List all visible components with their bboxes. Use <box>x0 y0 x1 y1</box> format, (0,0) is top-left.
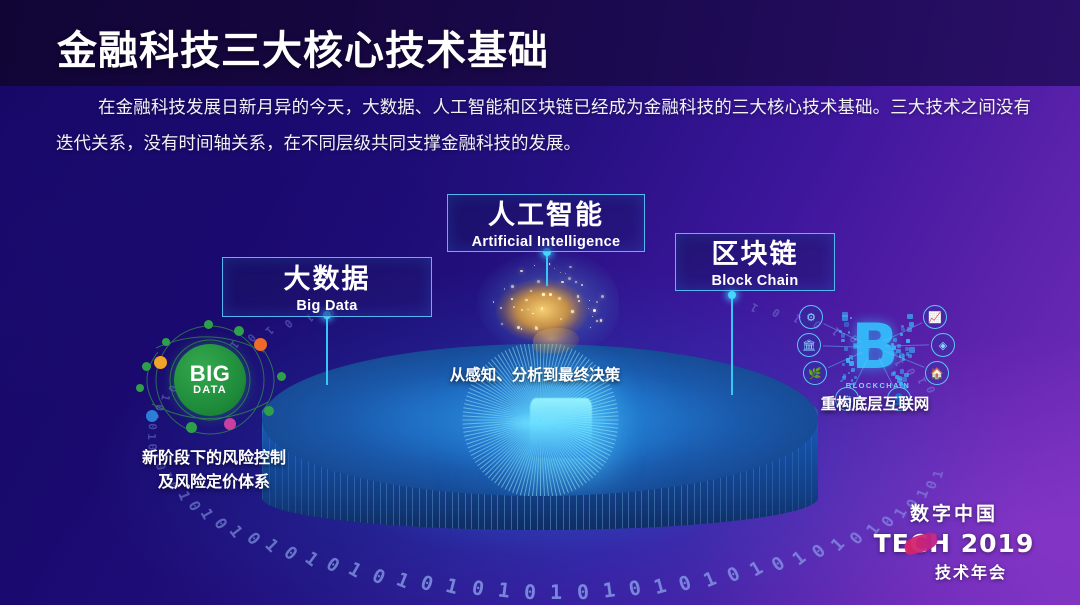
brain-spark <box>513 306 515 308</box>
brain-spark <box>571 310 574 313</box>
brain-spark <box>558 297 561 300</box>
blockchain-pixel <box>848 331 850 333</box>
logo-tech-text: TECH 2019 <box>874 529 1035 558</box>
brain-spark <box>521 328 523 330</box>
brain-spark <box>549 263 551 265</box>
brain-spark <box>511 285 514 288</box>
node-dot <box>277 372 286 381</box>
node-dot <box>162 338 170 346</box>
brain-spark <box>521 309 523 311</box>
brain-spark <box>565 273 566 274</box>
blockchain-pixel <box>844 322 849 327</box>
node-dot <box>254 338 267 351</box>
blockchain-pixel <box>893 338 897 342</box>
brain-spark <box>549 293 552 296</box>
blockchain-pixel <box>849 361 854 366</box>
brain-spark <box>596 320 598 322</box>
caption-big-data-line1: 新阶段下的风险控制 <box>94 444 334 468</box>
blockchain-satellite-icon: ⚙ <box>799 305 823 329</box>
blockchain-pixel <box>909 347 915 353</box>
brain-spark <box>542 293 545 296</box>
blockchain-pixel <box>850 383 853 386</box>
brain-spark <box>581 284 584 287</box>
brain-spark <box>588 308 589 309</box>
brain-spark <box>561 281 564 284</box>
binary-digit: 1 <box>748 300 760 315</box>
node-dot <box>142 362 151 371</box>
node-dot <box>186 422 197 433</box>
blockchain-pixel <box>841 339 845 343</box>
blockchain-satellite-icon: ◈ <box>931 333 955 357</box>
blockchain-pixel <box>892 346 896 350</box>
binary-digit: 0 <box>923 478 941 491</box>
brain-spark <box>569 266 572 269</box>
blockchain-satellite-icon: 🏠 <box>925 361 949 385</box>
brain-spark <box>534 265 535 266</box>
brain-spark <box>560 272 561 273</box>
blockchain-pixel <box>842 363 845 366</box>
big-data-network-icon: BIG DATA <box>128 318 296 438</box>
brain-spark <box>577 295 580 298</box>
big-data-badge-top: BIG <box>190 364 231 385</box>
blockchain-pixel <box>906 339 910 343</box>
brain-spark <box>527 309 528 310</box>
footer-logo: 数字中国 TECH 2019 技术年会 <box>870 499 1038 583</box>
node-dot <box>136 384 144 392</box>
brain-spark <box>575 281 577 283</box>
label-cn-big-data: 大数据 <box>223 265 431 295</box>
blockchain-connector-line <box>823 345 861 347</box>
node-dot <box>204 320 213 329</box>
label-en-blockchain: Block Chain <box>676 273 834 289</box>
brain-spark <box>578 300 580 302</box>
brain-spark <box>589 300 590 301</box>
logo-line-2: TECH 2019 <box>870 529 1038 558</box>
brain-spark <box>525 299 528 302</box>
node-dot <box>146 410 158 422</box>
label-box-ai[interactable]: 人工智能 Artificial Intelligence <box>447 194 645 252</box>
big-data-badge: BIG DATA <box>174 344 246 416</box>
blockchain-pixel <box>904 373 908 377</box>
brain-spark <box>590 327 591 328</box>
presentation-slide: 金融科技三大核心技术基础 在金融科技发展日新月异的今天，大数据、人工智能和区块链… <box>0 0 1080 605</box>
page-title: 金融科技三大核心技术基础 <box>57 18 549 76</box>
blockchain-pixel <box>907 314 913 320</box>
binary-digit: 1 <box>931 469 948 480</box>
connector-line-big-data <box>326 315 328 385</box>
logo-line-1: 数字中国 <box>870 499 1038 526</box>
glowing-brain-icon <box>477 250 619 358</box>
brain-spark <box>501 323 503 325</box>
intro-paragraph: 在金融科技发展日新月异的今天，大数据、人工智能和区块链已经成为金融科技的三大核心… <box>56 90 1031 162</box>
label-box-blockchain[interactable]: 区块链 Block Chain <box>675 233 835 291</box>
brain-spark <box>532 313 534 315</box>
brain-spark <box>537 280 540 283</box>
brain-spark <box>601 295 604 298</box>
brain-spark <box>535 327 538 330</box>
node-dot <box>264 406 274 416</box>
brain-spark <box>568 277 571 280</box>
connector-line-blockchain <box>731 295 733 395</box>
node-dot <box>224 418 236 430</box>
caption-big-data-line2: 及风险定价体系 <box>94 468 334 492</box>
brain-spark <box>504 288 505 289</box>
brain-spark <box>500 307 502 309</box>
brain-spark <box>593 309 596 312</box>
blockchain-pixel <box>842 376 846 380</box>
brain-spark <box>596 301 598 303</box>
blockchain-pixel <box>898 376 902 380</box>
blockchain-pixel <box>891 372 895 376</box>
brain-spark <box>592 316 593 317</box>
node-dot <box>234 326 244 336</box>
blockchain-connector-line <box>885 344 929 346</box>
connector-line-ai <box>546 252 548 286</box>
brain-spark <box>541 307 544 310</box>
brain-spark <box>517 326 520 329</box>
brain-stem <box>533 328 579 354</box>
blockchain-pixel <box>905 347 909 351</box>
node-dot <box>154 356 167 369</box>
label-cn-ai: 人工智能 <box>448 201 644 231</box>
big-data-badge-bottom: DATA <box>193 384 227 396</box>
label-en-ai: Artificial Intelligence <box>448 234 644 250</box>
blockchain-satellite-icon: 📈 <box>923 305 947 329</box>
blockchain-satellite-icon: 🌿 <box>803 361 827 385</box>
blockchain-pixel <box>902 377 908 383</box>
label-cn-blockchain: 区块链 <box>676 240 834 270</box>
caption-blockchain: 重构底层互联网 <box>795 392 955 414</box>
brain-spark <box>560 318 562 320</box>
blockchain-pixel <box>842 315 848 321</box>
brain-spark <box>511 298 513 300</box>
label-en-big-data: Big Data <box>223 298 431 314</box>
brain-spark <box>520 270 523 273</box>
brain-spark <box>493 301 494 302</box>
blockchain-pixel <box>906 352 910 356</box>
logo-line-3: 技术年会 <box>904 559 1038 583</box>
brain-spark <box>530 290 532 292</box>
brain-spark <box>554 268 555 269</box>
caption-ai: 从感知、分析到最终决策 <box>420 363 650 385</box>
blockchain-satellite-icon: 🏛 <box>797 333 821 357</box>
label-box-big-data[interactable]: 大数据 Big Data <box>222 257 432 317</box>
